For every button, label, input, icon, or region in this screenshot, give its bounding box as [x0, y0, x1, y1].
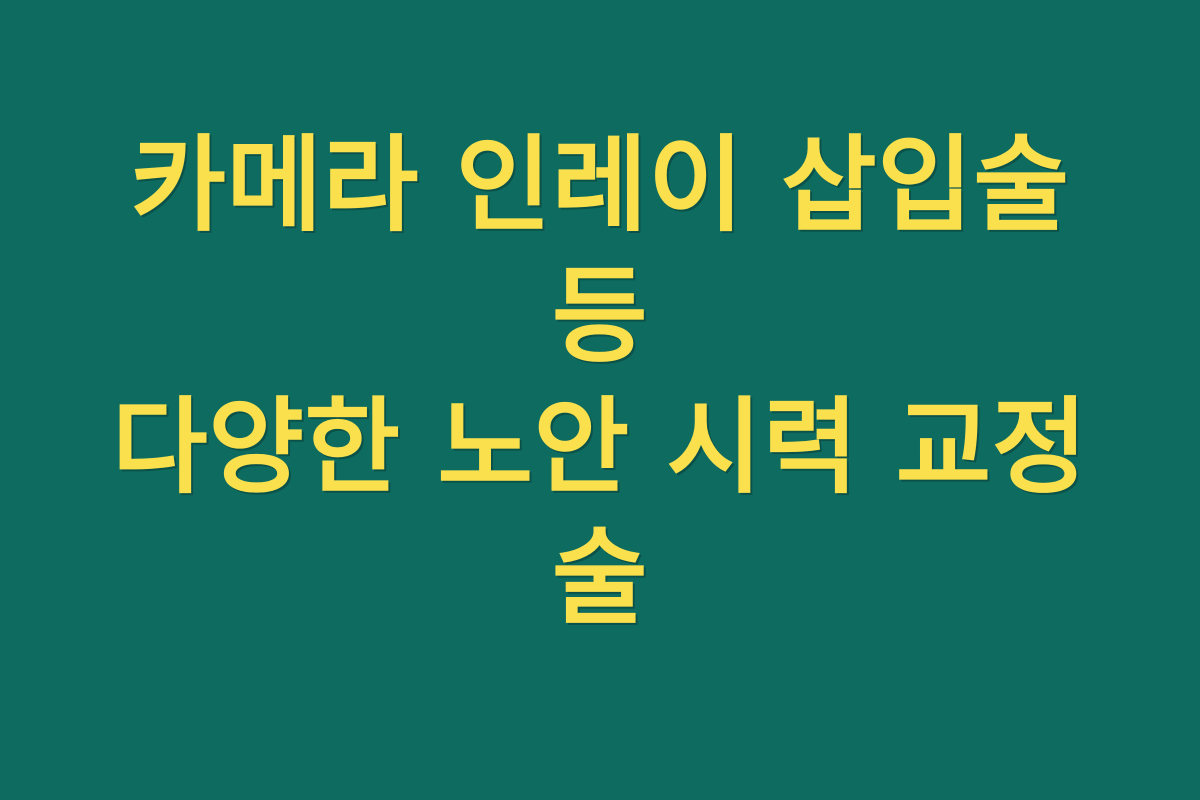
text-banner: 카메라 인레이 삽입술 등 다양한 노안 시력 교정 술 — [0, 0, 1200, 800]
headline-text: 카메라 인레이 삽입술 등 다양한 노안 시력 교정 술 — [70, 120, 1130, 644]
